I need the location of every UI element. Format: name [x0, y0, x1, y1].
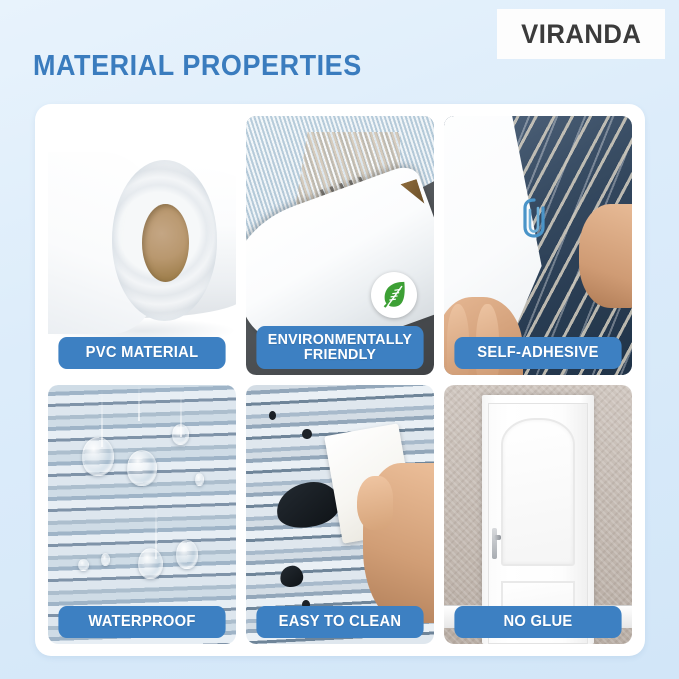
- water-droplet: [138, 548, 162, 579]
- water-droplet: [78, 559, 89, 572]
- stain-spot: [269, 411, 277, 420]
- features-grid: PVC MATERIAL: [48, 116, 632, 644]
- eco-badge: [371, 272, 417, 318]
- water-droplet: [176, 540, 199, 568]
- stain-smear: [278, 564, 304, 589]
- feature-label-pvc-material: PVC MATERIAL: [58, 337, 225, 369]
- paperclip-icon: [519, 194, 549, 240]
- feature-label-self-adhesive: SELF-ADHESIVE: [454, 337, 621, 369]
- feature-label-line-1: ENVIRONMENTALLY: [260, 332, 420, 348]
- droplet-trail: [138, 385, 140, 421]
- right-hand: [579, 204, 632, 308]
- water-droplet: [172, 424, 189, 445]
- feature-label-line-2: FRIENDLY: [260, 347, 420, 363]
- water-droplet: [82, 437, 114, 476]
- feature-label-waterproof: WATERPROOF: [58, 606, 225, 638]
- water-droplet: [101, 553, 110, 566]
- brand-name: VIRANDA: [521, 19, 641, 50]
- feature-label-easy-to-clean: EASY TO CLEAN: [256, 606, 423, 638]
- water-droplet: [195, 473, 204, 486]
- feature-card-no-glue: NO GLUE: [444, 385, 632, 644]
- water-droplet: [127, 450, 157, 486]
- door-panel-upper: [501, 418, 575, 566]
- leaf-icon: [379, 280, 409, 310]
- feature-label-environmentally-friendly: ENVIRONMENTALLY FRIENDLY: [256, 326, 423, 370]
- stain-spot: [302, 429, 311, 439]
- door-handle: [492, 528, 497, 559]
- feature-card-environmentally-friendly: ENVIRONMENTALLY FRIENDLY: [246, 116, 434, 375]
- hand: [363, 463, 434, 624]
- page-title: MATERIAL PROPERTIES: [33, 50, 362, 83]
- features-panel: PVC MATERIAL: [35, 104, 645, 656]
- feature-label-no-glue: NO GLUE: [454, 606, 621, 638]
- brand-badge: VIRANDA: [497, 9, 665, 59]
- roll-cardboard-core: [142, 204, 189, 282]
- feature-card-waterproof: WATERPROOF: [48, 385, 236, 644]
- feature-card-self-adhesive: SELF-ADHESIVE: [444, 116, 632, 375]
- feature-card-pvc-material: PVC MATERIAL: [48, 116, 236, 375]
- feature-card-easy-to-clean: EASY TO CLEAN: [246, 385, 434, 644]
